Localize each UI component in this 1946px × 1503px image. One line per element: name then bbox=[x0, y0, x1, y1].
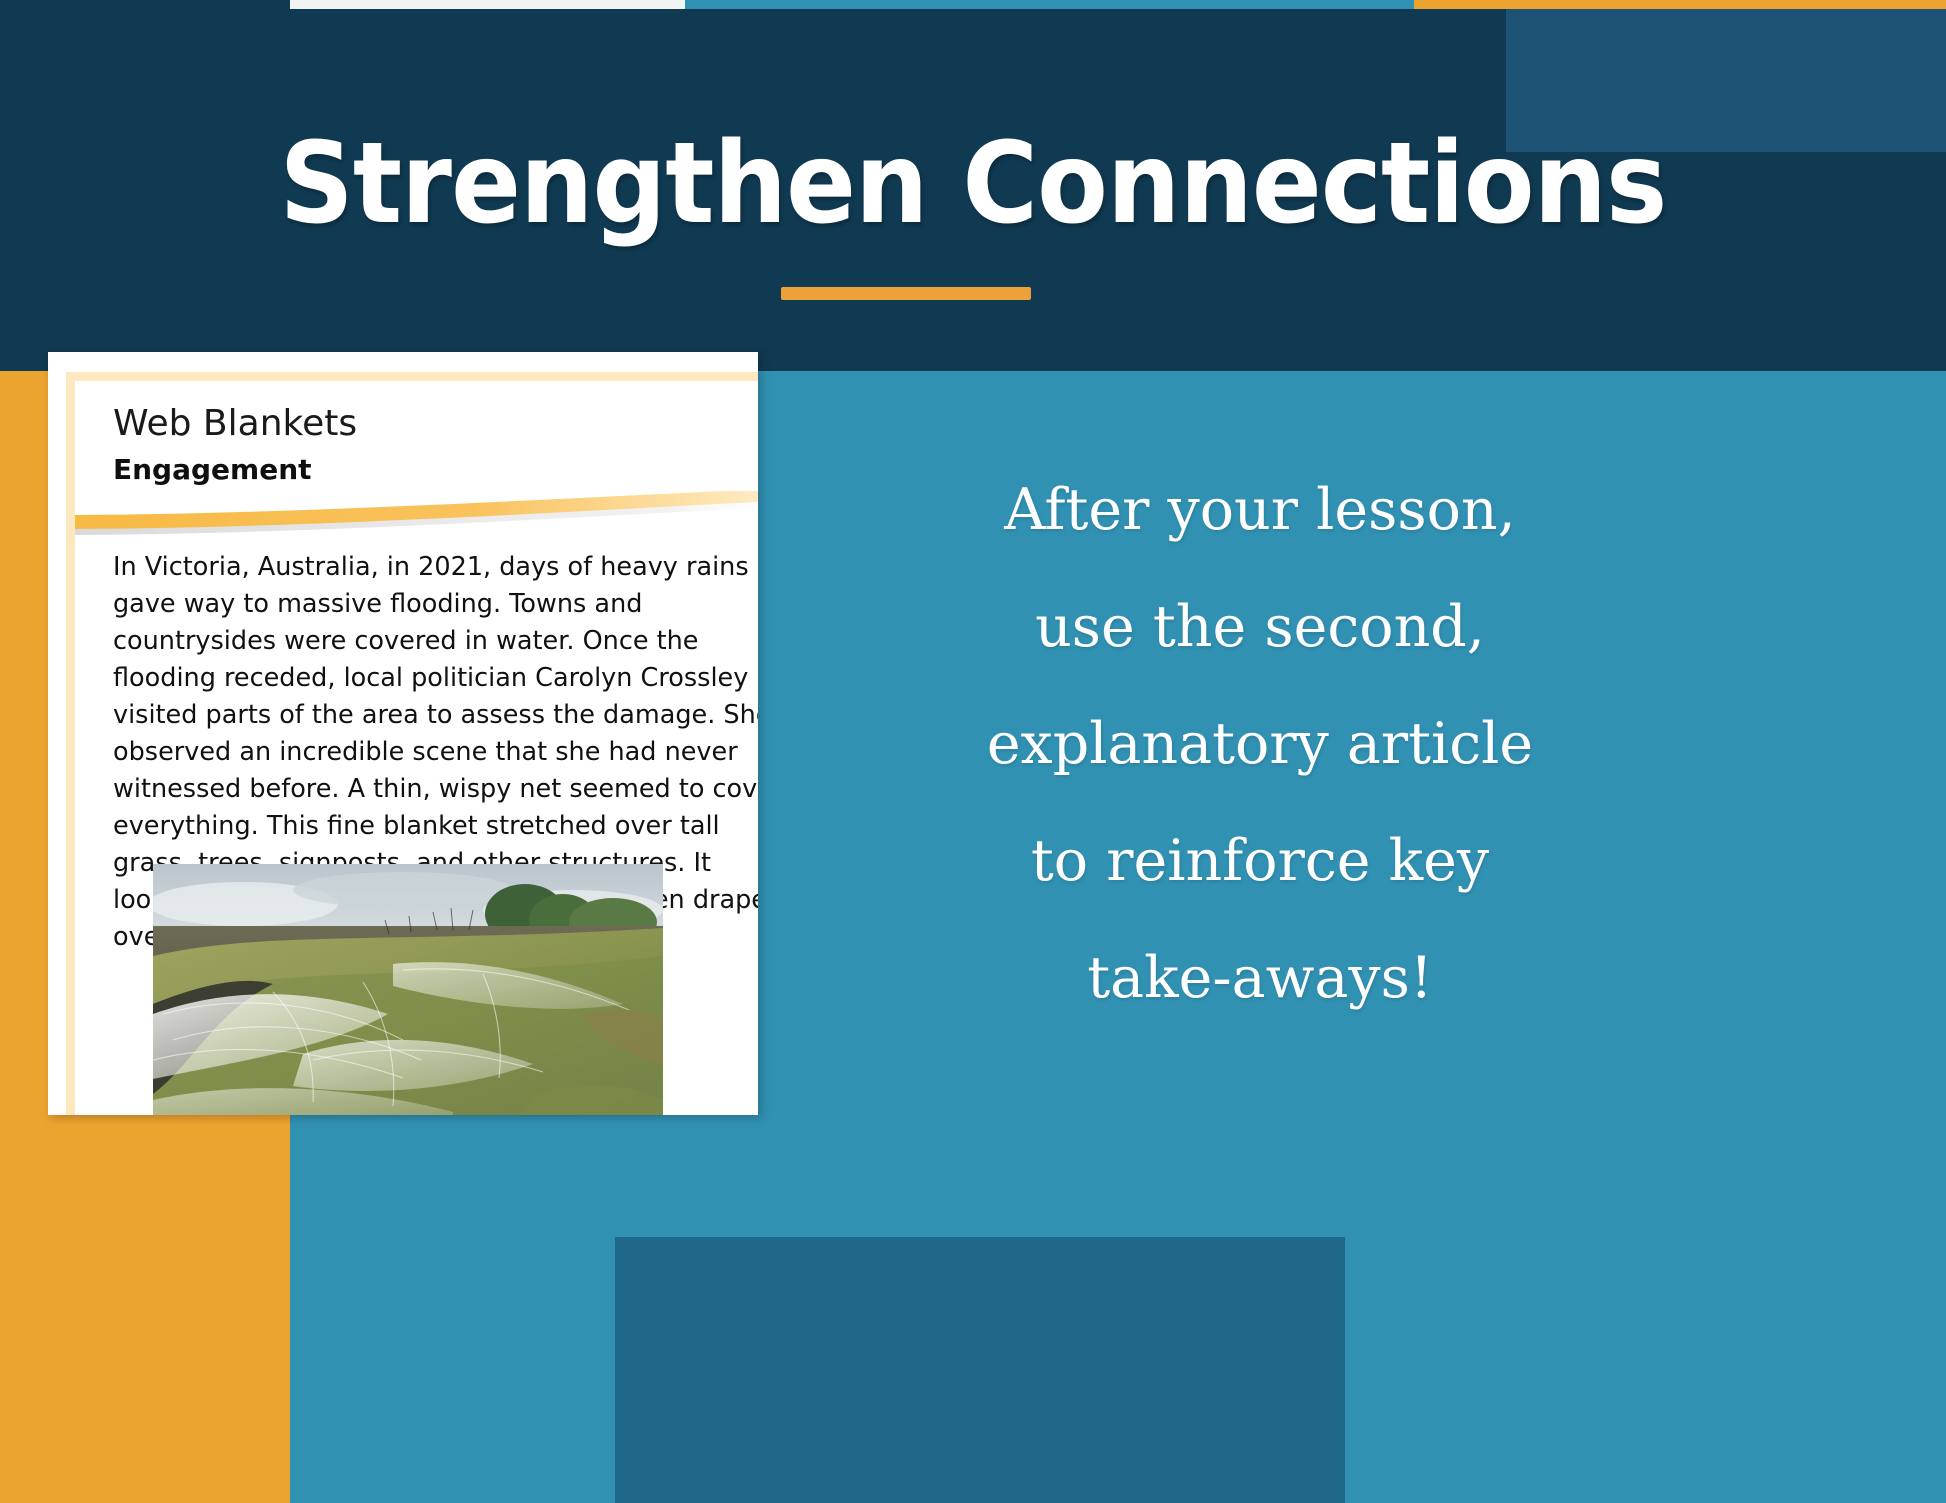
swoosh-icon bbox=[75, 491, 758, 553]
top-accent-strip bbox=[0, 0, 1946, 9]
instruction-line: take-aways! bbox=[900, 920, 1620, 1037]
spider-web-landscape-photo bbox=[153, 864, 663, 1115]
instruction-line: After your lesson, bbox=[900, 452, 1620, 569]
article-body-line: witnessed before. A thin, wispy net seem… bbox=[113, 771, 758, 808]
article-body-line: gave way to massive flooding. Towns and bbox=[113, 586, 758, 623]
article-heading: Web Blankets bbox=[113, 403, 357, 444]
article-card[interactable]: Web Blankets Engagement bbox=[48, 352, 758, 1115]
top-strip-teal bbox=[685, 0, 1414, 9]
article-body-line: everything. This fine blanket stretched … bbox=[113, 808, 758, 845]
article-body-line: In Victoria, Australia, in 2021, days of… bbox=[113, 549, 758, 586]
article-body-line: observed an incredible scene that she ha… bbox=[113, 734, 758, 771]
page-title: Strengthen Connections bbox=[78, 128, 1868, 240]
article-body-line: flooding receded, local politician Carol… bbox=[113, 660, 758, 697]
top-strip-white bbox=[290, 0, 685, 9]
bottom-dark-teal-block bbox=[615, 1237, 1345, 1503]
bottom-mid-teal-block bbox=[290, 1382, 615, 1503]
article-body-line: countrysides were covered in water. Once… bbox=[113, 623, 758, 660]
instruction-line: use the second, bbox=[900, 569, 1620, 686]
slide: Strengthen Connections Web Blankets Enga… bbox=[0, 0, 1946, 1503]
top-strip-orange bbox=[1414, 0, 1946, 9]
article-body-line: visited parts of the area to assess the … bbox=[113, 697, 758, 734]
bottom-orange-block bbox=[0, 1382, 290, 1503]
instruction-text: After your lesson, use the second, expla… bbox=[900, 452, 1620, 1037]
instruction-line: explanatory article bbox=[900, 686, 1620, 803]
instruction-line: to reinforce key bbox=[900, 803, 1620, 920]
article-photo bbox=[153, 864, 663, 1115]
title-underline-rule bbox=[781, 287, 1031, 300]
top-strip-navy bbox=[0, 0, 290, 9]
article-swoosh-graphic bbox=[75, 491, 758, 553]
article-subheading: Engagement bbox=[113, 453, 312, 486]
